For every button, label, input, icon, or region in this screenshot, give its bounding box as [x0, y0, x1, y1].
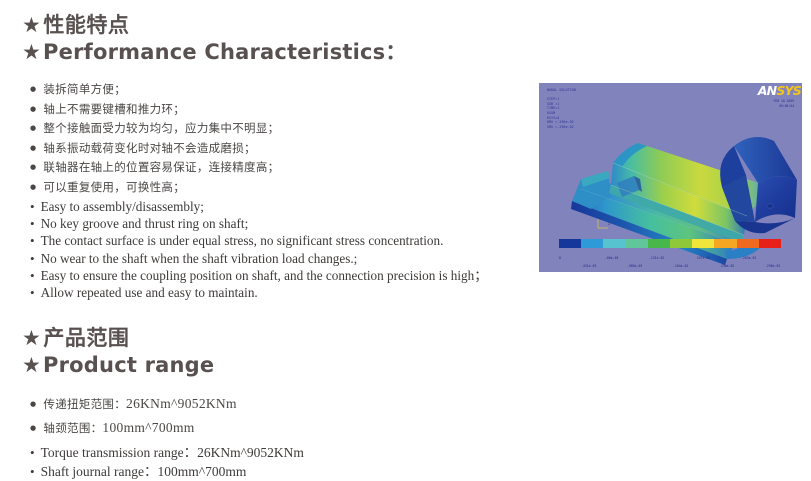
product-range-heading-en: ★Product range — [22, 352, 214, 379]
product-range-heading-cn: ★产品范围 — [22, 325, 214, 352]
color-legend-bar — [559, 239, 781, 248]
list-item: 轴系振动载荷变化时对轴不会造成磨损； — [30, 139, 279, 159]
product-range-bullets-en: Torque transmission range：26KNm^9052KNm … — [30, 443, 304, 481]
list-item: No wear to the shaft when the shaft vibr… — [30, 250, 487, 267]
list-item: 整个接触面受力较为均匀，应力集中不明显； — [30, 119, 279, 139]
performance-heading-group: ★性能特点 ★Performance Characteristics： — [22, 12, 407, 66]
legend-swatch — [626, 239, 648, 248]
legend-tick: 0 — [559, 256, 561, 260]
list-item: 可以重复使用，可换性高； — [30, 178, 279, 198]
list-item: 轴颈范围：100mm^700mm — [30, 416, 237, 440]
ansys-fea-stress-plot: ANSYS NODAL SOLUTION STEP=1 SUB =1 TIME=… — [539, 83, 802, 272]
performance-heading-en-text: Performance Characteristics： — [43, 40, 407, 64]
sim-canvas: ANSYS NODAL SOLUTION STEP=1 SUB =1 TIME=… — [539, 83, 802, 272]
legend-tick: .263e-02 — [741, 256, 756, 260]
performance-heading-cn-text: 性能特点 — [43, 13, 129, 37]
star-icon: ★ — [22, 352, 41, 379]
list-item: 轴上不需要键槽和推力环； — [30, 100, 279, 120]
star-icon: ★ — [22, 39, 41, 66]
legend-tick: .131e-02 — [649, 256, 664, 260]
product-spec-page: ★性能特点 ★Performance Characteristics： 装拆简单… — [0, 0, 811, 477]
range-label: 传递扭矩范围： — [43, 397, 126, 411]
legend-tick: .230e-02 — [719, 264, 734, 268]
legend-tick: .296e-02 — [765, 264, 780, 268]
product-range-heading-cn-text: 产品范围 — [43, 326, 129, 350]
star-icon: ★ — [22, 12, 41, 39]
list-item: 装拆简单方便； — [30, 80, 279, 100]
legend-tick: .985e-03 — [627, 264, 642, 268]
legend-swatch — [714, 239, 736, 248]
star-icon: ★ — [22, 325, 41, 352]
legend-swatch — [648, 239, 670, 248]
list-item: Easy to ensure the coupling position on … — [30, 267, 487, 284]
legend-swatch — [581, 239, 603, 248]
legend-swatch — [692, 239, 714, 248]
list-item: Shaft journal range：100mm^700mm — [30, 462, 304, 481]
range-value: 26KNm^9052KNm — [126, 396, 237, 411]
legend-tick: .164e-02 — [673, 264, 688, 268]
range-value: 100mm^700mm — [102, 420, 194, 435]
legend-tick: .431e-03 — [581, 264, 596, 268]
list-item: 联轴器在轴上的位置容易保证，连接精度高； — [30, 158, 279, 178]
legend-tick: .86e-03 — [605, 256, 618, 260]
legend-swatch — [737, 239, 759, 248]
list-item: Torque transmission range：26KNm^9052KNm — [30, 443, 304, 462]
list-item: The contact surface is under equal stres… — [30, 232, 487, 249]
list-item: No key groove and thrust ring on shaft; — [30, 215, 487, 232]
legend-swatch — [670, 239, 692, 248]
product-range-heading-group: ★产品范围 ★Product range — [22, 325, 214, 379]
axis-label-z: Z — [608, 222, 610, 226]
performance-heading-cn: ★性能特点 — [22, 12, 407, 39]
legend-swatch — [603, 239, 625, 248]
list-item: 传递扭矩范围：26KNm^9052KNm — [30, 392, 237, 416]
performance-heading-en: ★Performance Characteristics： — [22, 39, 407, 66]
performance-bullets-en: Easy to assembly/disassembly; No key gro… — [30, 198, 487, 301]
list-item: Allow repeated use and easy to maintain. — [30, 284, 487, 301]
list-item: Easy to assembly/disassembly; — [30, 198, 487, 215]
axis-triad-icon: Z — [597, 216, 611, 228]
range-label: 轴颈范围： — [43, 421, 102, 435]
legend-swatch — [759, 239, 781, 248]
product-range-bullets-cn: 传递扭矩范围：26KNm^9052KNm 轴颈范围：100mm^700mm — [30, 392, 237, 440]
product-range-heading-en-text: Product range — [43, 353, 214, 377]
legend-swatch — [559, 239, 581, 248]
legend-tick: .197e-02 — [695, 256, 710, 260]
performance-bullets-cn: 装拆简单方便； 轴上不需要键槽和推力环； 整个接触面受力较为均匀，应力集中不明显… — [30, 80, 279, 197]
